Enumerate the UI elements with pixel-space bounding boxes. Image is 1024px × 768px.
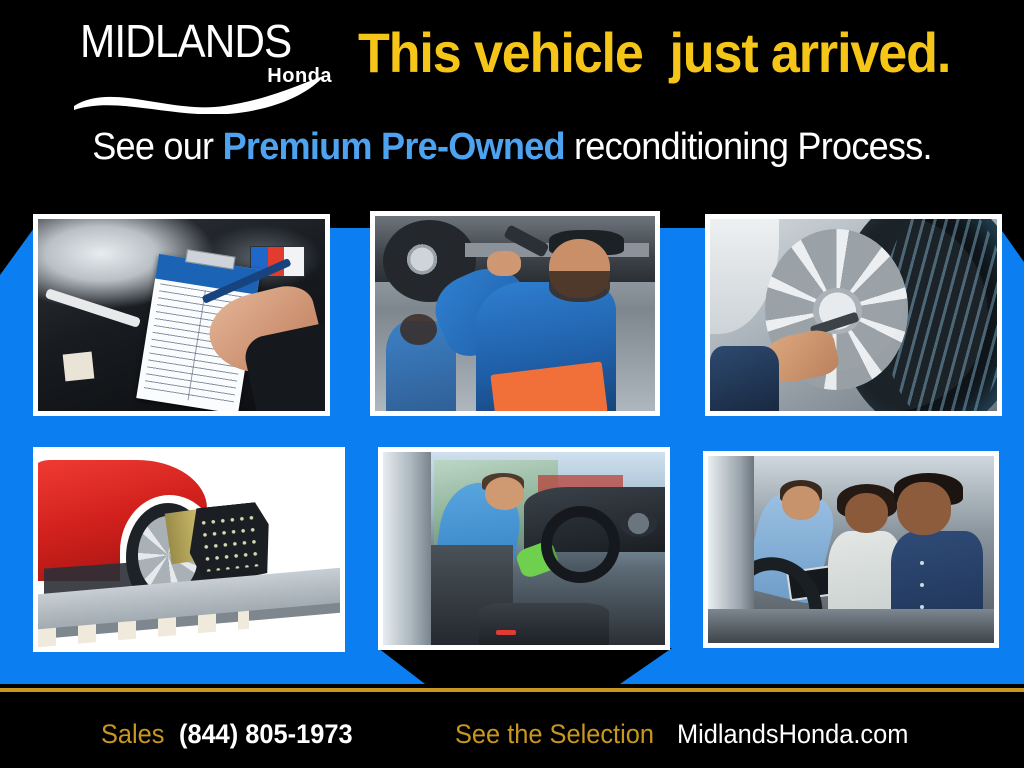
selection-link[interactable]: See the Selection MidlandsHonda.com (455, 719, 923, 750)
photo-undercarriage-inspection[interactable]: Mechanic in blue coveralls inspecting a … (370, 211, 660, 416)
swoosh-icon (72, 76, 340, 114)
photo-interior-detailing[interactable]: Detailer in a blue polo cleaning a car i… (378, 447, 670, 650)
photo-customer-delivery[interactable]: Sales associate with a tablet showing a … (703, 451, 999, 648)
advertisement-banner: MIDLANDS Honda This vehicle just arrived… (0, 0, 1024, 768)
selection-label: See the Selection (455, 719, 654, 750)
sales-phone[interactable]: (844) 805-1973 (179, 719, 353, 750)
photo-inspection-checklist[interactable]: Technician filling out a Car Maintenance… (33, 214, 330, 416)
sales-contact[interactable]: Sales (844) 805-1973 (101, 719, 363, 750)
subheadline-after: reconditioning Process. (565, 126, 932, 168)
subheadline-before: See our (92, 126, 222, 168)
headline: This vehicle just arrived. (358, 22, 950, 84)
subheadline: See our Premium Pre-Owned reconditioning… (26, 124, 999, 170)
logo-wordmark: MIDLANDS (80, 18, 291, 64)
footer: Sales (844) 805-1973 See the Selection M… (0, 700, 1024, 768)
gold-divider (0, 688, 1024, 692)
subheadline-highlight: Premium Pre-Owned (223, 126, 565, 168)
photo-wheel-alignment[interactable]: Red car on an alignment rack with a whee… (33, 447, 345, 652)
photo-wheel-tire-service[interactable]: Technician servicing an alloy wheel and … (705, 214, 1002, 416)
website-url[interactable]: MidlandsHonda.com (677, 719, 908, 750)
header: MIDLANDS Honda This vehicle just arrived… (0, 0, 1024, 110)
dealership-logo[interactable]: MIDLANDS Honda (72, 18, 340, 98)
sales-label: Sales (101, 719, 164, 750)
